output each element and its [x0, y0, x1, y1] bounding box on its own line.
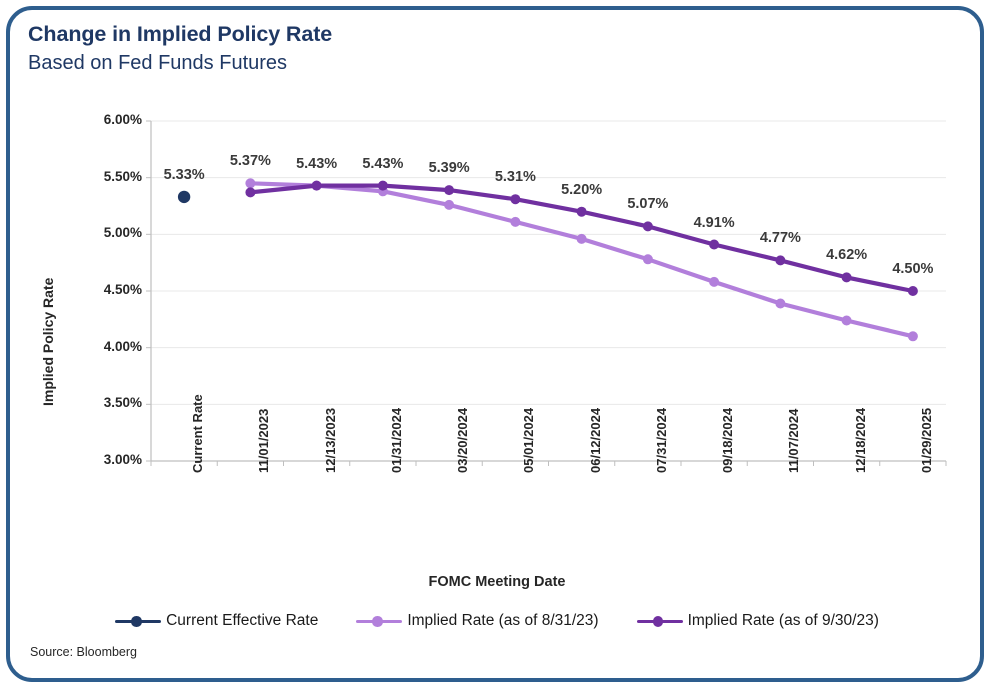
- legend-marker-icon: [356, 614, 402, 628]
- data-point: [444, 185, 454, 195]
- y-axis-tick-label: 4.50%: [72, 282, 142, 297]
- y-axis-tick-label: 3.00%: [72, 452, 142, 467]
- y-axis-tick-label: 6.00%: [72, 112, 142, 127]
- y-axis-title: Implied Policy Rate: [40, 278, 56, 406]
- x-axis-tick-label: Current Rate: [190, 394, 205, 473]
- data-point: [908, 331, 918, 341]
- data-point-label: 5.43%: [281, 156, 353, 172]
- data-point: [577, 234, 587, 244]
- data-point: [378, 181, 388, 191]
- data-point: [643, 221, 653, 231]
- data-point: [709, 240, 719, 250]
- data-point: [577, 207, 587, 217]
- legend-dot: [131, 616, 142, 627]
- data-point: [775, 299, 785, 309]
- legend-label: Implied Rate (as of 9/30/23): [688, 612, 879, 630]
- data-point-label: 5.33%: [148, 167, 220, 183]
- data-point: [245, 187, 255, 197]
- implied-policy-rate-chart: Implied Policy Rate FOMC Meeting Date 6.…: [0, 0, 994, 692]
- x-axis-tick-label: 06/12/2024: [588, 408, 603, 473]
- y-axis-tick-label: 4.00%: [72, 339, 142, 354]
- y-axis-tick-label: 3.50%: [72, 395, 142, 410]
- y-axis-tick-label: 5.50%: [72, 169, 142, 184]
- data-point: [245, 178, 255, 188]
- legend-dot: [372, 616, 383, 627]
- data-point: [842, 272, 852, 282]
- legend-marker-icon: [115, 614, 161, 628]
- data-point-label: 5.07%: [612, 196, 684, 212]
- data-point: [842, 316, 852, 326]
- data-point: [908, 286, 918, 296]
- x-axis-tick-label: 05/01/2024: [521, 408, 536, 473]
- source-note: Source: Bloomberg: [30, 645, 137, 659]
- data-point: [178, 191, 190, 203]
- data-point-label: 4.77%: [744, 230, 816, 246]
- data-point-label: 5.43%: [347, 156, 419, 172]
- x-axis-tick-label: 09/18/2024: [720, 408, 735, 473]
- data-point: [643, 254, 653, 264]
- legend-marker-icon: [637, 614, 683, 628]
- data-point-label: 4.91%: [678, 215, 750, 231]
- x-axis-tick-label: 11/07/2024: [786, 409, 801, 473]
- legend-label: Implied Rate (as of 8/31/23): [407, 612, 598, 630]
- data-point: [510, 217, 520, 227]
- x-axis-tick-label: 11/01/2023: [256, 409, 271, 473]
- data-point: [775, 255, 785, 265]
- legend-item[interactable]: Implied Rate (as of 8/31/23): [356, 612, 598, 630]
- data-point-label: 5.20%: [546, 182, 618, 198]
- y-axis-tick-label: 5.00%: [72, 225, 142, 240]
- x-axis-tick-label: 03/20/2024: [455, 408, 470, 473]
- data-point-label: 5.31%: [479, 169, 551, 185]
- data-point-label: 5.39%: [413, 160, 485, 176]
- legend-item[interactable]: Implied Rate (as of 9/30/23): [637, 612, 879, 630]
- x-axis-tick-label: 01/29/2025: [919, 408, 934, 473]
- data-point-label: 4.50%: [877, 261, 949, 277]
- x-axis-tick-label: 12/18/2024: [853, 408, 868, 473]
- data-point: [444, 200, 454, 210]
- x-axis-tick-label: 01/31/2024: [389, 408, 404, 473]
- data-point: [510, 194, 520, 204]
- chart-legend: Current Effective RateImplied Rate (as o…: [0, 612, 994, 630]
- data-point: [709, 277, 719, 287]
- data-point-label: 5.37%: [214, 153, 286, 169]
- data-point-label: 4.62%: [811, 247, 883, 263]
- legend-dot: [653, 616, 664, 627]
- legend-label: Current Effective Rate: [166, 612, 318, 630]
- x-axis-tick-label: 07/31/2024: [654, 408, 669, 473]
- x-axis-title: FOMC Meeting Date: [0, 574, 994, 590]
- x-axis-tick-label: 12/13/2023: [323, 408, 338, 473]
- legend-item[interactable]: Current Effective Rate: [115, 612, 318, 630]
- data-point: [312, 181, 322, 191]
